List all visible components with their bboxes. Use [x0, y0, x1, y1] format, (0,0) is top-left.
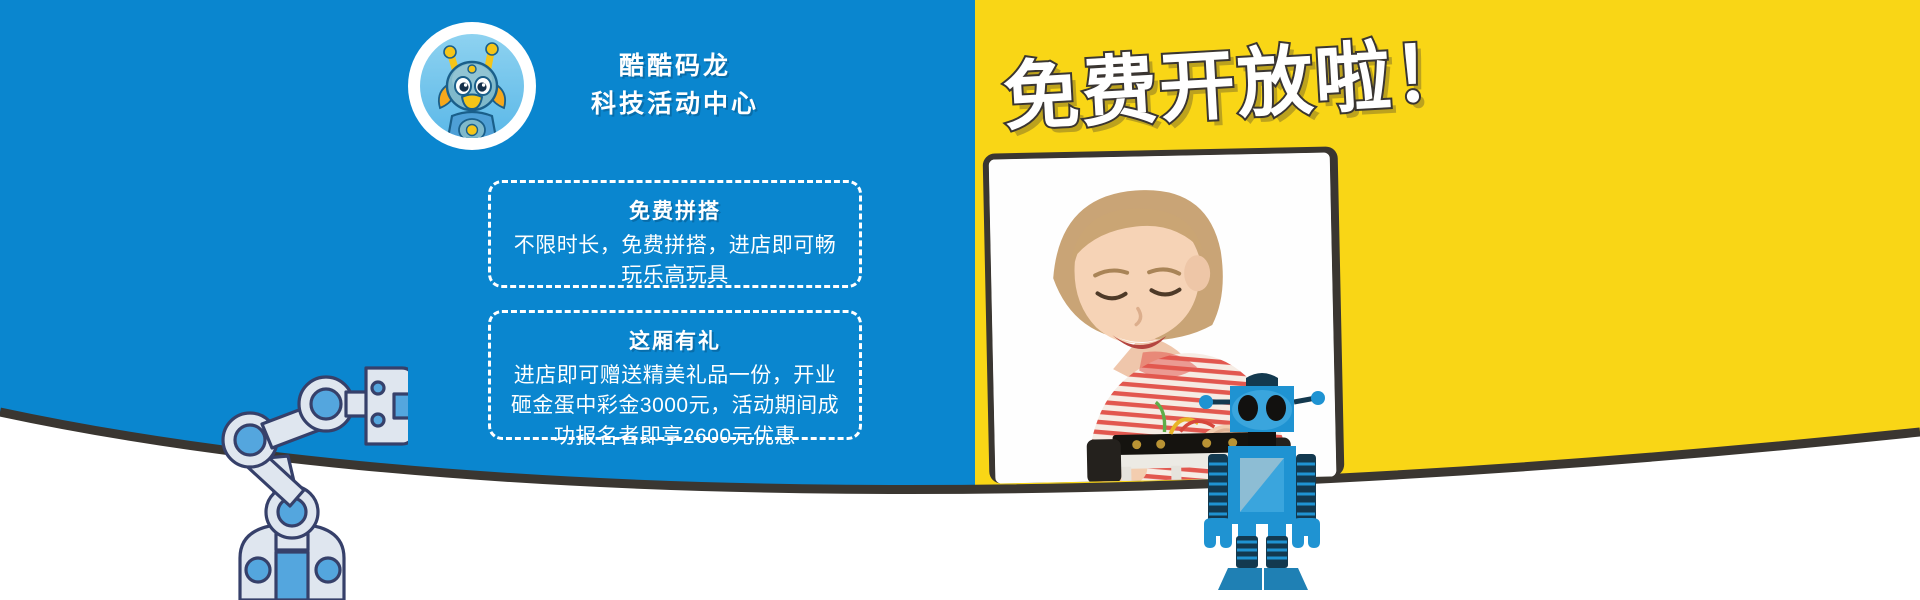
info-card-title: 这厢有礼: [505, 325, 845, 355]
info-card-title: 免费拼搭: [505, 195, 845, 225]
info-card-free-building: 免费拼搭 不限时长，免费拼搭，进店即可畅玩乐高玩具: [488, 180, 862, 288]
brand-line-2: 科技活动中心: [560, 86, 790, 124]
dragon-mascot-icon: [420, 34, 524, 138]
brand-line-1: 酷酷码龙: [560, 48, 790, 86]
promo-banner: 酷酷码龙 科技活动中心 免费开放啦！ 免费拼搭 不限时长，免费拼搭，进店即可畅玩…: [0, 0, 1920, 600]
robot-arm-icon: [218, 352, 408, 600]
logo-disc: [420, 34, 524, 138]
brand-logo: [408, 22, 536, 150]
brand-name-block: 酷酷码龙 科技活动中心: [560, 48, 790, 123]
info-card-gifts: 这厢有礼 进店即可赠送精美礼品一份，开业砸金蛋中彩金3000元，活动期间成功报名…: [488, 310, 862, 440]
toy-robot-icon: [1198, 358, 1326, 600]
info-card-body: 进店即可赠送精美礼品一份，开业砸金蛋中彩金3000元，活动期间成功报名者即享26…: [505, 361, 845, 452]
info-card-body: 不限时长，免费拼搭，进店即可畅玩乐高玩具: [505, 231, 845, 292]
